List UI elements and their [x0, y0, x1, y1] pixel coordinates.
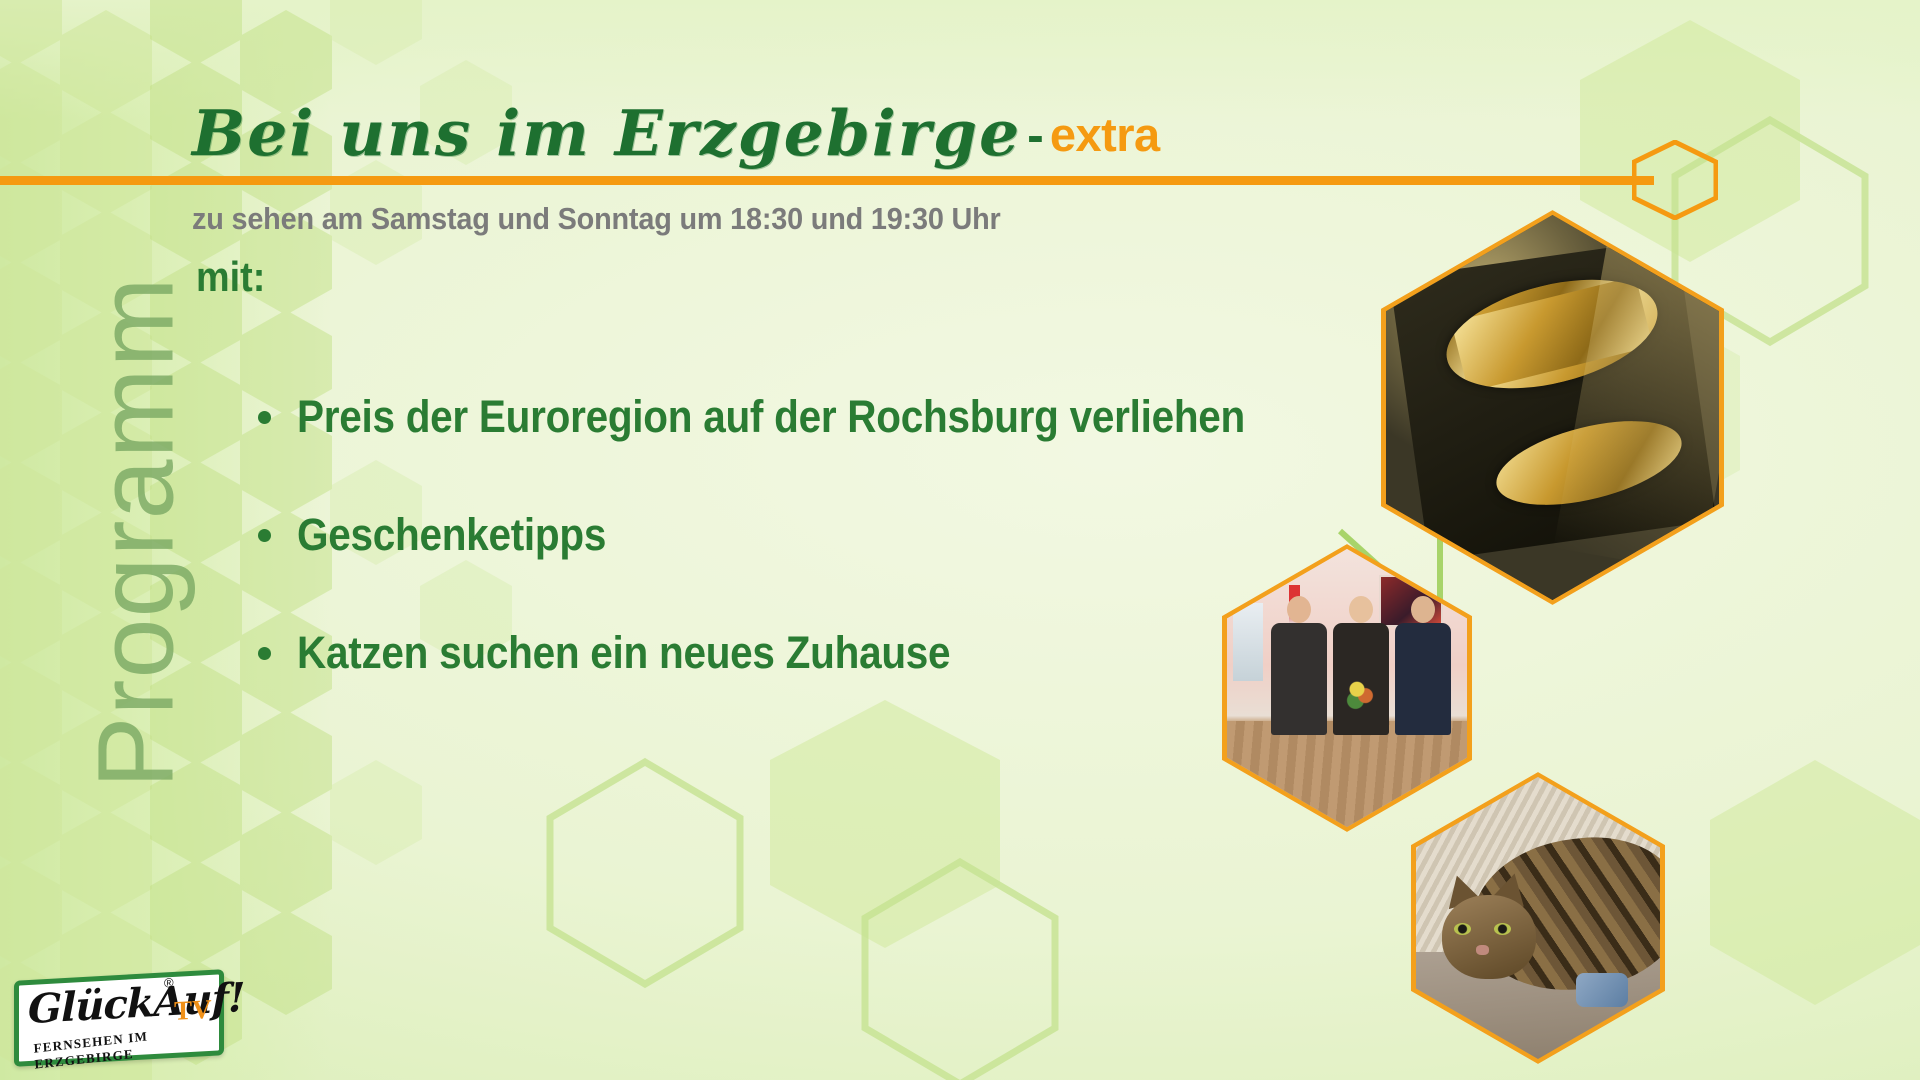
list-item-label: Preis der Euroregion auf der Rochsburg v… [297, 391, 1245, 443]
intro-label: mit: [196, 253, 265, 301]
broadcast-times-subtitle: zu sehen am Samstag und Sonntag um 18:30… [192, 201, 1001, 237]
flower-bouquet [1345, 678, 1375, 710]
divider-hexagon-icon [1632, 140, 1718, 220]
cat-toy [1576, 973, 1628, 1007]
person-head [1287, 596, 1311, 623]
cat-eye-right [1494, 923, 1511, 935]
list-item: Geschenketipps [258, 476, 1350, 594]
title-script-text: Bei uns im Erzgebirge [192, 96, 1021, 170]
list-item: Preis der Euroregion auf der Rochsburg v… [258, 358, 1350, 476]
person-body [1395, 623, 1451, 735]
bullet-dot-icon [258, 647, 271, 660]
vertical-programm-label: Programm [73, 143, 198, 923]
person-left [1271, 596, 1327, 735]
topic-list: Preis der Euroregion auf der Rochsburg v… [258, 358, 1350, 712]
person-head [1349, 596, 1373, 623]
glueckauf-tv-logo: GlückAuf! ® TV FERNSEHEN IM ERZGEBIRGE [14, 975, 224, 1061]
list-item-label: Geschenketipps [297, 509, 606, 561]
registered-trademark-icon: ® [164, 975, 174, 991]
person-center [1333, 596, 1389, 735]
logo-content: GlückAuf! ® TV FERNSEHEN IM ERZGEBIRGE [14, 969, 224, 1067]
person-body [1271, 623, 1327, 735]
broadcast-slide: Programm Bei uns im Erzgebirge-extra zu … [0, 0, 1920, 1080]
person-right [1395, 596, 1451, 735]
cat-head [1442, 895, 1536, 979]
header-divider-rule [0, 176, 1654, 185]
title-dash: - [1021, 107, 1050, 163]
title-extra-badge: extra [1050, 108, 1160, 161]
list-item-label: Katzen suchen ein neues Zuhause [297, 627, 950, 679]
list-item: Katzen suchen ein neues Zuhause [258, 594, 1350, 712]
bullet-dot-icon [258, 411, 271, 424]
page-title: Bei uns im Erzgebirge-extra [192, 96, 1160, 170]
person-head [1411, 596, 1435, 623]
cat-eye-left [1454, 923, 1471, 935]
bullet-dot-icon [258, 529, 271, 542]
cat-nose [1476, 945, 1489, 955]
window [1233, 603, 1263, 681]
